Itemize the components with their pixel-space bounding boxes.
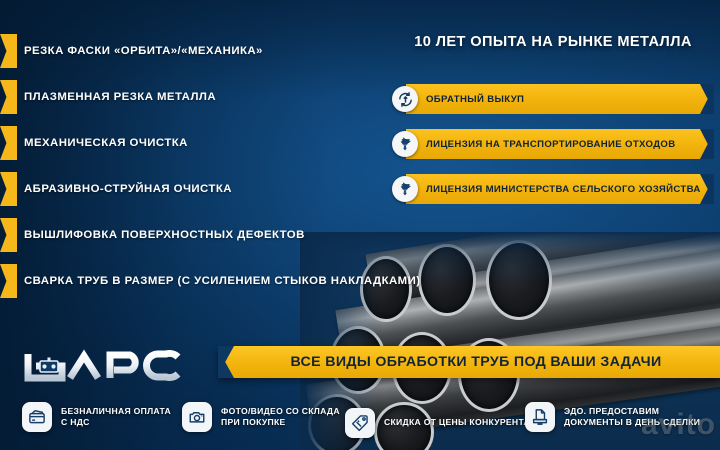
badge-label: ЛИЦЕНЗИЯ НА ТРАНСПОРТИРОВАНИЕ ОТХОДОВ <box>426 129 676 159</box>
feature-label-line1: СКИДКА ОТ ЦЕНЫ КОНКУРЕНТА <box>384 417 530 429</box>
feature-label: ФОТО/ВИДЕО СО СКЛАДА ПРИ ПОКУПКЕ <box>221 406 340 429</box>
credentials-badges: ОБРАТНЫЙ ВЫКУП ЛИЦЕНЗИЯ НА ТРАНСПОРТИРОВ… <box>392 84 714 219</box>
feature-item: БЕЗНАЛИЧНАЯ ОПЛАТА С НДС <box>22 402 171 432</box>
feature-label-line1: БЕЗНАЛИЧНАЯ ОПЛАТА <box>61 406 171 418</box>
feature-label-line2: С НДС <box>61 417 171 429</box>
banner-text: ВСЕ ВИДЫ ОБРАБОТКИ ТРУБ ПОД ВАШИ ЗАДАЧИ <box>218 346 720 378</box>
service-item: МЕХАНИЧЕСКАЯ ОЧИСТКА <box>0 120 400 166</box>
headline: 10 ЛЕТ ОПЫТА НА РЫНКЕ МЕТАЛЛА <box>398 34 708 50</box>
feature-label-line1: ФОТО/ВИДЕО СО СКЛАДА <box>221 406 340 418</box>
feature-item: ЭДО. ПРЕДОСТАВИМ ДОКУМЕНТЫ В ДЕНЬ СДЕЛКИ <box>525 402 700 432</box>
double-headed-eagle-icon <box>392 131 418 157</box>
feature-label-line2: ДОКУМЕНТЫ В ДЕНЬ СДЕЛКИ <box>564 417 700 429</box>
service-item: СВАРКА ТРУБ В РАЗМЕР (С УСИЛЕНИЕМ СТЫКОВ… <box>0 258 400 304</box>
badge-item: ЛИЦЕНЗИЯ МИНИСТЕРСТВА СЕЛЬСКОГО ХОЗЯЙСТВ… <box>392 174 714 204</box>
service-item-label: МЕХАНИЧЕСКАЯ ОЧИСТКА <box>24 137 188 149</box>
ribbon-marker-icon <box>0 34 17 68</box>
feature-item: ФОТО/ВИДЕО СО СКЛАДА ПРИ ПОКУПКЕ <box>182 402 340 432</box>
feature-label: СКИДКА ОТ ЦЕНЫ КОНКУРЕНТА <box>384 417 530 429</box>
service-item-label: ПЛАЗМЕННАЯ РЕЗКА МЕТАЛЛА <box>24 91 216 103</box>
feature-item: СКИДКА ОТ ЦЕНЫ КОНКУРЕНТА <box>345 408 530 438</box>
ribbon-marker-icon <box>0 172 17 206</box>
badge-item: ОБРАТНЫЙ ВЫКУП <box>392 84 714 114</box>
features-row: БЕЗНАЛИЧНАЯ ОПЛАТА С НДС ФОТО/ВИДЕО СО С… <box>0 398 720 450</box>
service-item-label: СВАРКА ТРУБ В РАЗМЕР (С УСИЛЕНИЕМ СТЫКОВ… <box>24 275 421 287</box>
main-banner: ВСЕ ВИДЫ ОБРАБОТКИ ТРУБ ПОД ВАШИ ЗАДАЧИ <box>218 346 720 378</box>
feature-label: БЕЗНАЛИЧНАЯ ОПЛАТА С НДС <box>61 406 171 429</box>
badge-label: ЛИЦЕНЗИЯ МИНИСТЕРСТВА СЕЛЬСКОГО ХОЗЯЙСТВ… <box>426 174 701 204</box>
bars-pipe-logo: БАРС <box>18 344 194 388</box>
document-monitor-icon <box>525 402 555 432</box>
recycle-arrows-icon <box>392 86 418 112</box>
service-item-label: ВЫШЛИФОВКА ПОВЕРХНОСТНЫХ ДЕФЕКТОВ <box>24 229 305 241</box>
badge-label: ОБРАТНЫЙ ВЫКУП <box>426 84 524 114</box>
ribbon-marker-icon <box>0 126 17 160</box>
ribbon-marker-icon <box>0 218 17 252</box>
services-list: РЕЗКА ФАСКИ «ОРБИТА»/«МЕХАНИКА» ПЛАЗМЕНН… <box>0 28 400 304</box>
promo-banner: РЕЗКА ФАСКИ «ОРБИТА»/«МЕХАНИКА» ПЛАЗМЕНН… <box>0 0 720 450</box>
service-item: ПЛАЗМЕННАЯ РЕЗКА МЕТАЛЛА <box>0 74 400 120</box>
ribbon-marker-icon <box>0 264 17 298</box>
service-item: РЕЗКА ФАСКИ «ОРБИТА»/«МЕХАНИКА» <box>0 28 400 74</box>
price-tag-icon <box>345 408 375 438</box>
feature-label-line1: ЭДО. ПРЕДОСТАВИМ <box>564 406 700 418</box>
service-item-label: АБРАЗИВНО-СТРУЙНАЯ ОЧИСТКА <box>24 183 232 195</box>
service-item-label: РЕЗКА ФАСКИ «ОРБИТА»/«МЕХАНИКА» <box>24 45 263 57</box>
double-headed-eagle-icon <box>392 176 418 202</box>
service-item: АБРАЗИВНО-СТРУЙНАЯ ОЧИСТКА <box>0 166 400 212</box>
feature-label-line2: ПРИ ПОКУПКЕ <box>221 417 340 429</box>
ribbon-marker-icon <box>0 80 17 114</box>
camera-icon <box>182 402 212 432</box>
credit-card-icon <box>22 402 52 432</box>
badge-item: ЛИЦЕНЗИЯ НА ТРАНСПОРТИРОВАНИЕ ОТХОДОВ <box>392 129 714 159</box>
service-item: ВЫШЛИФОВКА ПОВЕРХНОСТНЫХ ДЕФЕКТОВ <box>0 212 400 258</box>
feature-label: ЭДО. ПРЕДОСТАВИМ ДОКУМЕНТЫ В ДЕНЬ СДЕЛКИ <box>564 406 700 429</box>
